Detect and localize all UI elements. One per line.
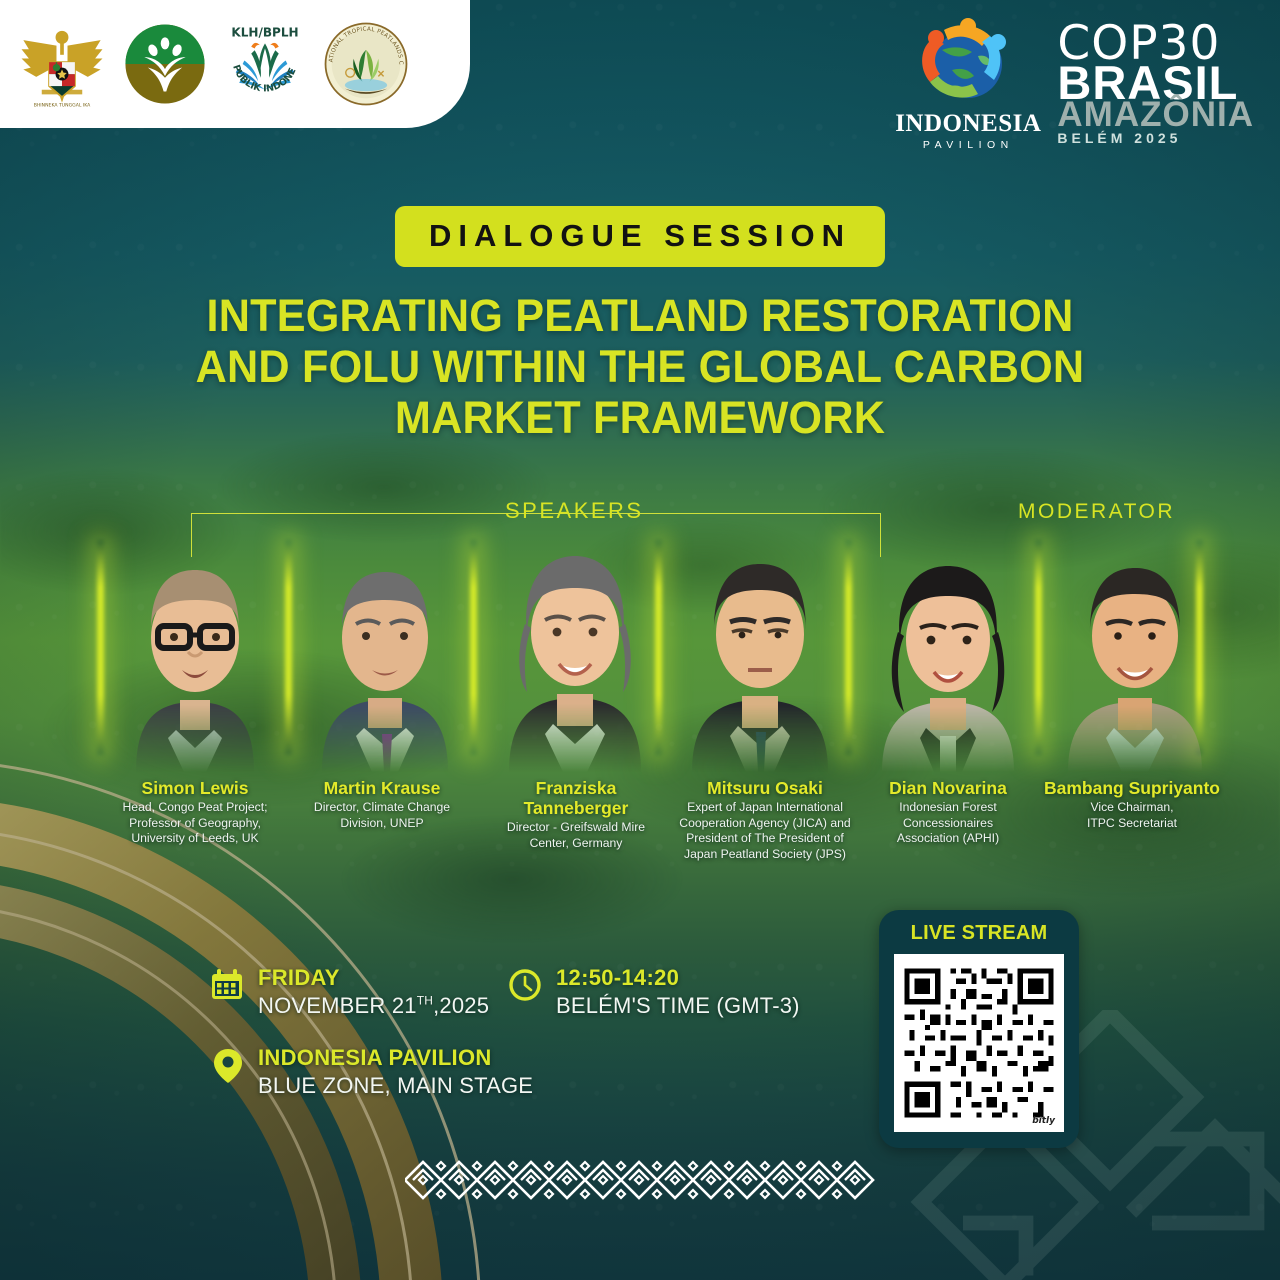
glow-bar [470, 540, 477, 755]
person-role: Director, Climate Change Division, UNEP [272, 800, 492, 831]
klh-bplh-logo-icon: KLH/BPLH REPUBLIK INDONESIA [222, 21, 308, 107]
speakers-label: SPEAKERS [505, 498, 644, 524]
person-name: Franziska Tanneberger [476, 778, 676, 818]
page-title: INTEGRATING PEATLAND RESTORATIONAND FOLU… [26, 291, 1255, 444]
date-day: FRIDAY [258, 966, 489, 991]
glow-bar [97, 540, 104, 755]
live-stream-panel[interactable]: LIVE STREAM [879, 910, 1079, 1148]
clock-icon [508, 968, 542, 1007]
person-name: Simon Lewis [90, 778, 300, 798]
detail-date: FRIDAY NOVEMBER 21TH,2025 [210, 966, 489, 1019]
portrait-bambang-supriyanto [1048, 536, 1222, 772]
location-zone: BLUE ZONE, MAIN STAGE [258, 1073, 533, 1099]
indonesia-pavilion-logo: INDONESIA PAVILION [895, 16, 1041, 151]
event-poster: BHINNEKA TUNGGAL IKA KLH/BPLH [0, 0, 1280, 1280]
time-range: 12:50-14:20 [556, 966, 800, 991]
detail-location: INDONESIA PAVILION BLUE ZONE, MAIN STAGE [212, 1046, 533, 1099]
person-name: Mitsuru Osaki [660, 778, 870, 798]
map-pin-icon [212, 1048, 244, 1089]
cop30-line3: AMAZÔNIA [1057, 99, 1254, 131]
date-full: NOVEMBER 21TH,2025 [258, 993, 489, 1019]
person-name: Dian Novarina [853, 778, 1043, 798]
portrait-mitsuru-osaki [672, 532, 848, 772]
calendar-icon [210, 968, 244, 1007]
portrait-franziska-tanneberger [487, 528, 663, 772]
person-name: Martin Krause [282, 778, 482, 798]
glow-bar [285, 540, 292, 755]
cop30-logo: COP30 BRASIL AMAZÔNIA BELÉM 2025 [1057, 22, 1254, 146]
qr-code[interactable]: bitly [894, 954, 1064, 1132]
session-type-badge: DIALOGUE SESSION [395, 206, 885, 267]
detail-time: 12:50-14:20 BELÉM'S TIME (GMT-3) [508, 966, 800, 1019]
location-venue: INDONESIA PAVILION [258, 1046, 533, 1071]
pavilion-subtitle: PAVILION [923, 139, 1014, 151]
svg-text:BHINNEKA TUNGGAL IKA: BHINNEKA TUNGGAL IKA [34, 102, 91, 108]
cop30-line4: BELÉM 2025 [1057, 132, 1181, 145]
garuda-pancasila-emblem-icon: BHINNEKA TUNGGAL IKA [16, 18, 108, 110]
moderator-label: MODERATOR [1018, 500, 1175, 524]
pavilion-name: INDONESIA [895, 111, 1041, 136]
person-role: Indonesian Forest Concessionaires Associ… [855, 800, 1041, 847]
portrait-simon-lewis [110, 534, 280, 772]
itpc-logo-icon: INTERNATIONAL TROPICAL PEATLANDS CENTER [322, 20, 410, 108]
portrait-dian-novarina [862, 540, 1034, 772]
bitly-watermark: bitly [1032, 1116, 1055, 1126]
glow-bar [1035, 540, 1042, 755]
globe-people-icon [906, 16, 1030, 108]
svg-text:KLH/BPLH: KLH/BPLH [231, 25, 298, 39]
bottom-ornament-pattern [405, 1140, 875, 1220]
person-role: Expert of Japan International Cooperatio… [653, 800, 877, 862]
time-zone: BELÉM'S TIME (GMT-3) [556, 993, 800, 1019]
partner-logos-panel: BHINNEKA TUNGGAL IKA KLH/BPLH [0, 0, 470, 128]
person-role: Vice Chairman, ITPC Secretariat [1030, 800, 1234, 831]
live-stream-title: LIVE STREAM [911, 922, 1048, 945]
portrait-martin-krause [300, 538, 470, 772]
person-name: Bambang Supriyanto [1022, 778, 1242, 798]
cop30-branding: INDONESIA PAVILION COP30 BRASIL AMAZÔNIA… [895, 16, 1254, 151]
ministry-forestry-logo-icon [122, 21, 208, 107]
